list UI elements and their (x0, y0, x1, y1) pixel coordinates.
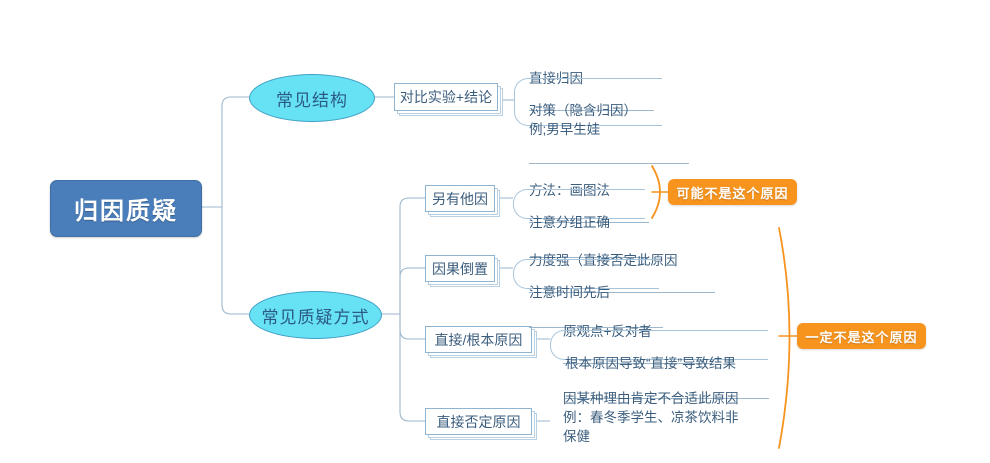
node-contrast-experiment-label: 对比实验+结论 (394, 83, 498, 111)
node-reverse-causation-label: 因果倒置 (425, 255, 495, 282)
leaf-grouping-correct-text: 注意分组正确 (529, 215, 610, 230)
node-reverse-causation[interactable]: 因果倒置 (425, 255, 495, 282)
wire-doubt-to-other-cause (400, 198, 425, 314)
node-other-cause-label: 另有他因 (425, 185, 495, 212)
leaf-countermeasure-text: 对策（隐含归因） 例;男早生娃 (529, 103, 637, 137)
root-node-label: 归因质疑 (74, 191, 178, 226)
leaf-time-order-text: 注意时间先后 (529, 285, 610, 300)
badge-maybe-not-cause[interactable]: 可能不是这个原因 (668, 179, 797, 205)
mindmap-canvas: 归因质疑 常见结构 常见质疑方式 对比实验+结论 另有他因 因果倒置 直接/根本… (0, 0, 990, 463)
leaf-root-leads-direct-text: 根本原因导致“直接”导致结果 (565, 356, 736, 371)
brace-large (779, 228, 790, 448)
wire-doubt-to-rootcause (400, 314, 425, 339)
wire-doubt-to-reverse (400, 268, 425, 314)
branch-node-doubt-methods[interactable]: 常见质疑方式 (249, 291, 382, 339)
node-direct-negate-cause[interactable]: 直接否定原因 (425, 408, 532, 435)
node-other-cause[interactable]: 另有他因 (425, 185, 495, 212)
node-direct-root-cause-label: 直接/根本原因 (425, 326, 532, 353)
wire-root-to-doubt (222, 207, 249, 314)
root-node[interactable]: 归因质疑 (50, 180, 202, 237)
branch-node-structure[interactable]: 常见结构 (249, 74, 375, 122)
branch-label-structure: 常见结构 (276, 86, 348, 111)
node-direct-negate-cause-label: 直接否定原因 (425, 408, 532, 435)
branch-label-doubt-methods: 常见质疑方式 (262, 303, 370, 328)
leaf-unsuitable-cause-text: 因某种理由肯定不合适此原因 例：春冬季学生、凉茶饮料非 保健 (563, 391, 739, 444)
wire-root-to-structure (222, 97, 249, 207)
node-direct-root-cause[interactable]: 直接/根本原因 (425, 326, 532, 353)
leaf-unsuitable-cause[interactable]: 因某种理由肯定不合适此原因 例：春冬季学生、凉茶饮料非 保健 (563, 370, 768, 463)
node-contrast-experiment[interactable]: 对比实验+结论 (394, 83, 498, 111)
wire-doubt-to-negate (400, 314, 425, 421)
leaf-countermeasure[interactable]: 对策（隐含归因） 例;男早生娃 (529, 82, 679, 160)
badge-maybe-not-cause-label: 可能不是这个原因 (676, 183, 788, 202)
badge-definitely-not-cause-label: 一定不是这个原因 (805, 327, 917, 346)
badge-definitely-not-cause[interactable]: 一定不是这个原因 (797, 323, 926, 349)
